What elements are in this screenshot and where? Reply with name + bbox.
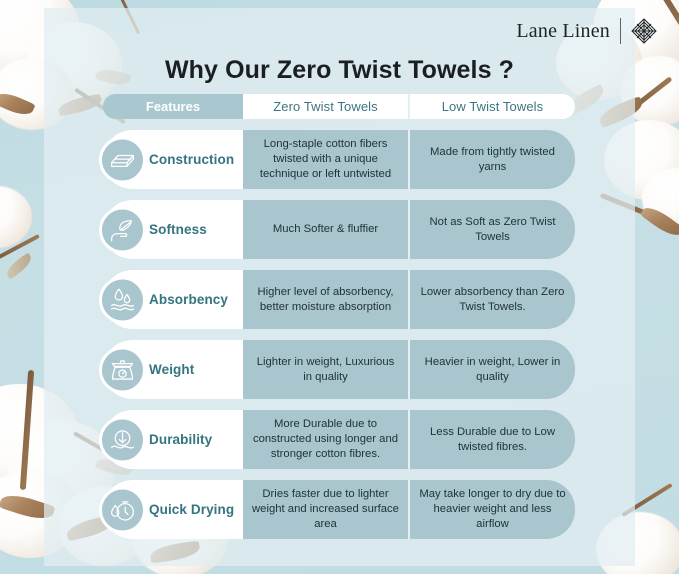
table-row: Softness Much Softer & fluffier Not as S…	[103, 200, 575, 259]
feature-label: Weight	[149, 362, 194, 378]
table-row: Construction Long-staple cotton fibers t…	[103, 130, 575, 189]
down-arrow-circle-icon	[99, 416, 146, 463]
column-zero-twist-towels: Zero Twist Towels	[243, 94, 410, 119]
feature-label: Construction	[149, 152, 234, 168]
zero-twist-cell: More Durable due to constructed using lo…	[243, 410, 410, 469]
low-twist-cell: Made from tightly twisted yarns	[410, 130, 575, 189]
zero-twist-cell: Long-staple cotton fibers twisted with a…	[243, 130, 410, 189]
low-twist-cell: Lower absorbency than Zero Twist Towels.	[410, 270, 575, 329]
zero-twist-cell: Higher level of absorbency, better moist…	[243, 270, 410, 329]
folded-towel-icon	[99, 136, 146, 183]
logo-divider	[620, 18, 621, 44]
page-title: Why Our Zero Twist Towels ?	[0, 56, 679, 85]
hand-with-feather-icon	[99, 206, 146, 253]
low-twist-cell: Heavier in weight, Lower in quality	[410, 340, 575, 399]
column-features: Features	[103, 94, 243, 119]
zero-twist-cell: Dries faster due to lighter weight and i…	[243, 480, 410, 539]
low-twist-cell: Less Durable due to Low twisted fibres.	[410, 410, 575, 469]
brand-logo: Lane Linen	[516, 18, 657, 44]
feature-label: Quick Drying	[149, 502, 234, 518]
woven-diamond-logo-icon	[631, 18, 657, 44]
weighing-scale-icon	[99, 346, 146, 393]
zero-twist-cell: Much Softer & fluffier	[243, 200, 410, 259]
feature-label: Durability	[149, 432, 212, 448]
column-low-twist-towels: Low Twist Towels	[410, 94, 575, 119]
table-row: Durability More Durable due to construct…	[103, 410, 575, 469]
table-header-row: Features Zero Twist Towels Low Twist Tow…	[103, 94, 575, 119]
comparison-table: Features Zero Twist Towels Low Twist Tow…	[103, 94, 575, 539]
table-row: Weight Lighter in weight, Luxurious in q…	[103, 340, 575, 399]
table-row: Quick Drying Dries faster due to lighter…	[103, 480, 575, 539]
feature-label: Softness	[149, 222, 207, 238]
low-twist-cell: May take longer to dry due to heavier we…	[410, 480, 575, 539]
stopwatch-droplet-icon	[99, 486, 146, 533]
zero-twist-cell: Lighter in weight, Luxurious in quality	[243, 340, 410, 399]
table-row: Absorbency Higher level of absorbency, b…	[103, 270, 575, 329]
water-droplets-waves-icon	[99, 276, 146, 323]
feature-label: Absorbency	[149, 292, 228, 308]
low-twist-cell: Not as Soft as Zero Twist Towels	[410, 200, 575, 259]
brand-name: Lane Linen	[516, 20, 610, 43]
